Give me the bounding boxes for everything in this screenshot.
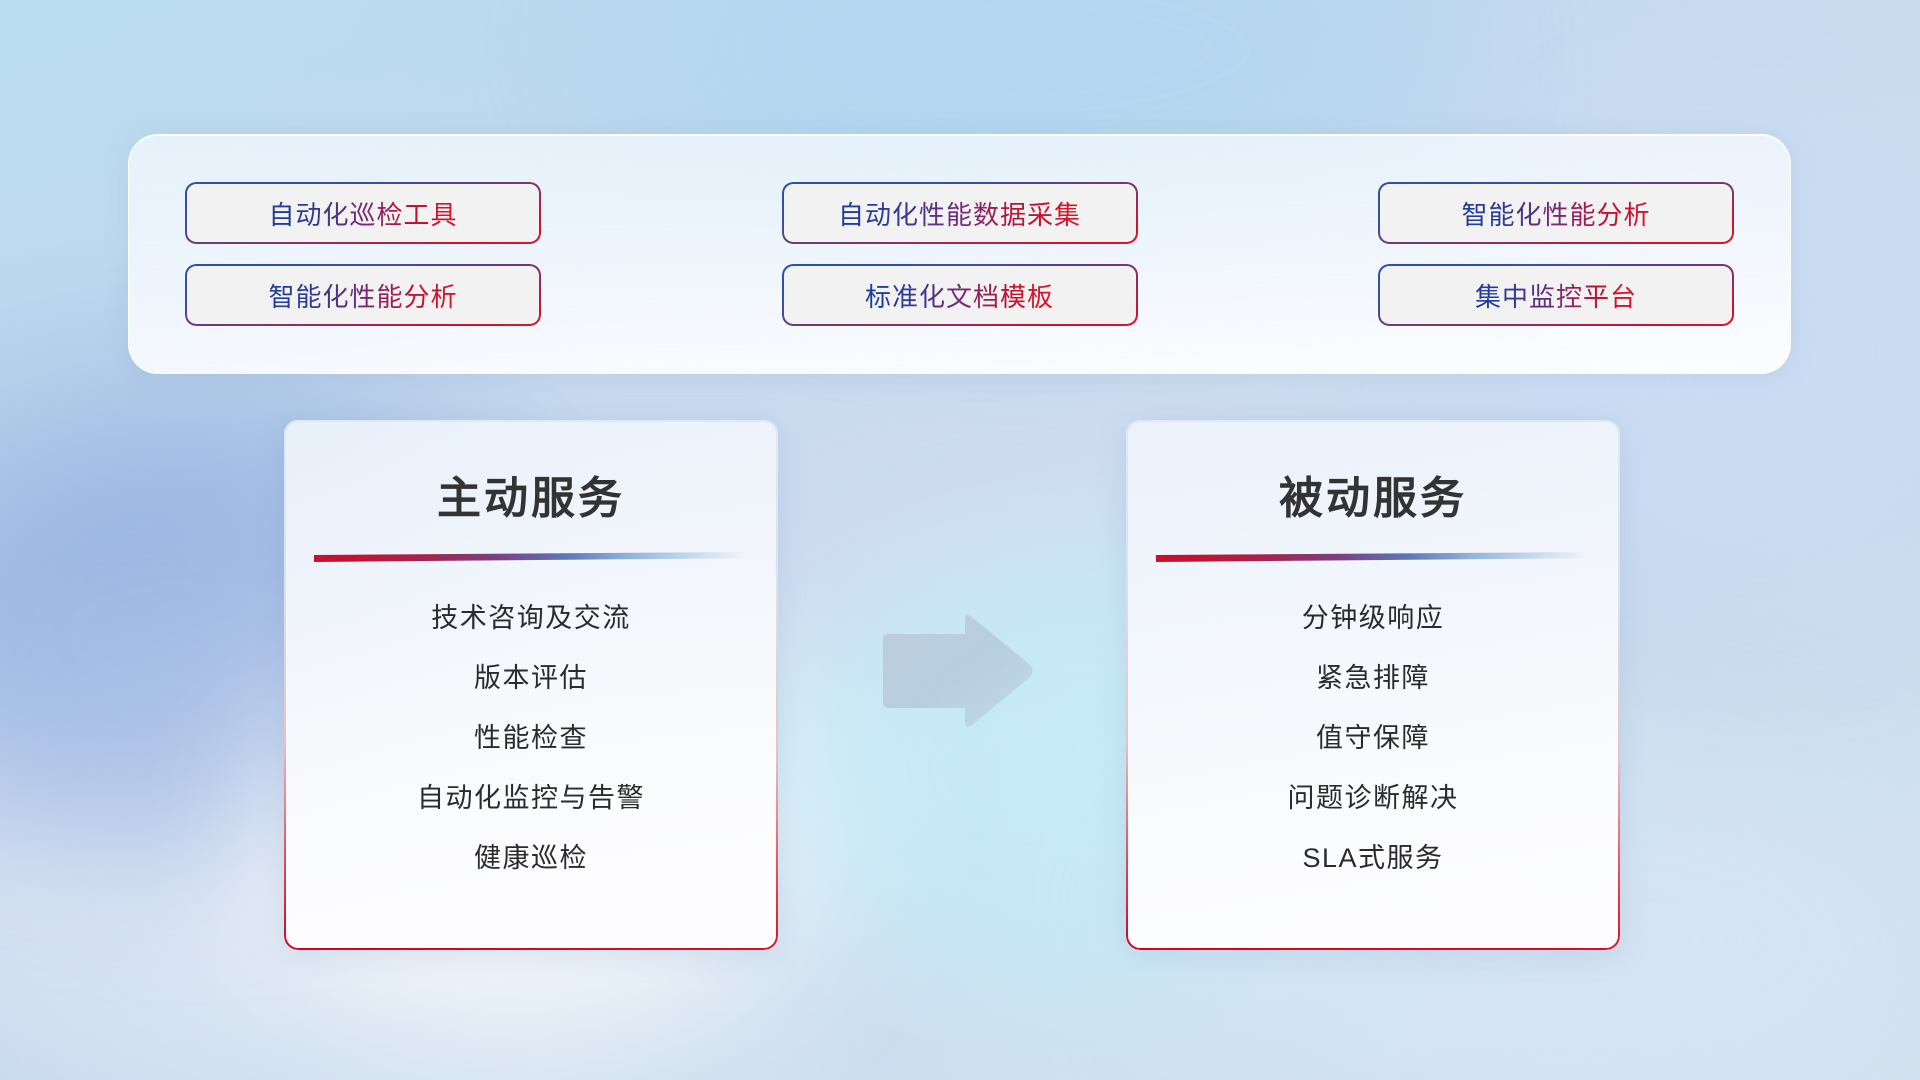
arrow-right-icon-svg — [877, 612, 1037, 730]
capabilities-row-1: 自动化巡检工具 自动化性能数据采集 智能化性能分析 — [185, 182, 1734, 244]
capabilities-row-2: 智能化性能分析 标准化文档模板 集中监控平台 — [185, 264, 1734, 326]
capability-chip-label: 自动化性能数据采集 — [838, 195, 1081, 232]
card-title-divider — [314, 552, 748, 562]
capability-chip-intelligent-performance-analysis[interactable]: 智能化性能分析 — [1378, 182, 1734, 244]
capability-chip-label: 智能化性能分析 — [268, 277, 457, 314]
capability-chip-centralized-monitoring-platform[interactable]: 集中监控平台 — [1378, 264, 1734, 326]
list-item: 分钟级响应 — [1302, 596, 1445, 635]
list-item: 健康巡检 — [474, 836, 588, 875]
capability-chip-intelligent-performance-analysis-2[interactable]: 智能化性能分析 — [185, 264, 541, 326]
capability-chip-label: 智能化性能分析 — [1461, 195, 1650, 232]
list-item: 性能检查 — [474, 716, 588, 755]
capability-chip-label: 自动化巡检工具 — [268, 195, 457, 232]
capability-chip-automated-inspection-tool[interactable]: 自动化巡检工具 — [185, 182, 541, 244]
capability-chip-automated-performance-data-collection[interactable]: 自动化性能数据采集 — [782, 182, 1138, 244]
card-title-divider — [1156, 552, 1590, 562]
capability-chip-standardized-document-template[interactable]: 标准化文档模板 — [782, 264, 1138, 326]
capability-chip-label: 集中监控平台 — [1475, 277, 1637, 314]
list-item: 自动化监控与告警 — [417, 776, 645, 815]
arrow-right-icon — [877, 612, 1037, 730]
slide-canvas: 自动化巡检工具 自动化性能数据采集 智能化性能分析 智能化性能分析 标准化文档模… — [0, 0, 1920, 1080]
list-item: 技术咨询及交流 — [431, 596, 631, 635]
list-item: 版本评估 — [474, 656, 588, 695]
list-item: 紧急排障 — [1316, 656, 1430, 695]
card-title: 被动服务 — [1152, 462, 1594, 526]
service-card-proactive: 主动服务 技术咨询及交流 版本评估 性能检查 自动化监控与告警 健康巡检 — [284, 420, 778, 950]
service-card-reactive: 被动服务 分钟级响应 紧急排障 值守保障 问题诊断解决 SLA式服务 — [1126, 420, 1620, 950]
card-item-list: 技术咨询及交流 版本评估 性能检查 自动化监控与告警 健康巡检 — [310, 596, 752, 875]
list-item: SLA式服务 — [1302, 836, 1443, 875]
capability-chip-label: 标准化文档模板 — [865, 277, 1054, 314]
capabilities-panel: 自动化巡检工具 自动化性能数据采集 智能化性能分析 智能化性能分析 标准化文档模… — [128, 134, 1791, 374]
card-title: 主动服务 — [310, 462, 752, 526]
list-item: 值守保障 — [1316, 716, 1430, 755]
card-item-list: 分钟级响应 紧急排障 值守保障 问题诊断解决 SLA式服务 — [1152, 596, 1594, 875]
list-item: 问题诊断解决 — [1288, 776, 1459, 815]
